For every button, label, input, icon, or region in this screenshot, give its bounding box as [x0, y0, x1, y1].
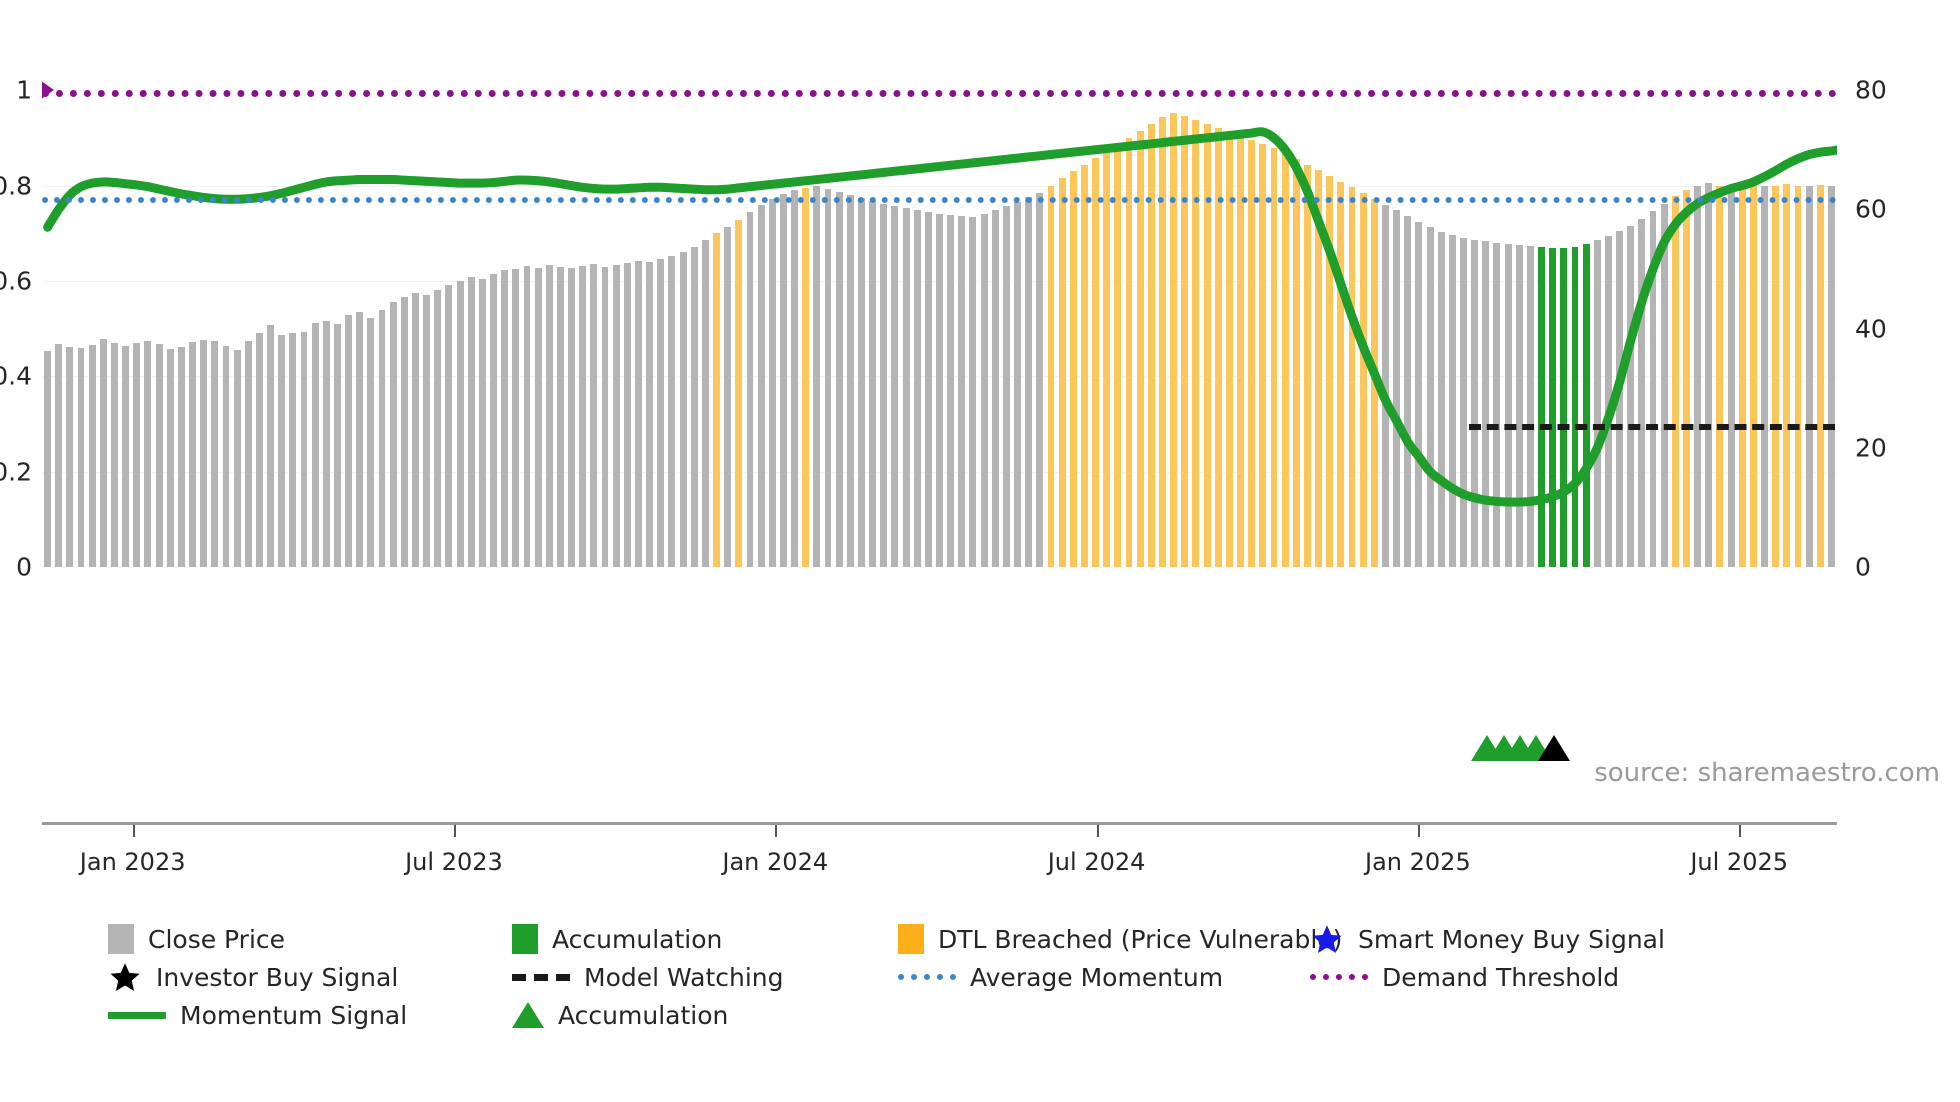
bar-close: [668, 256, 675, 567]
legend-item-model-watching[interactable]: Model Watching: [512, 958, 784, 996]
legend-item-dtl-breached[interactable]: DTL Breached (Price Vulnerable): [898, 920, 1342, 958]
bar-close: [367, 318, 374, 567]
bar-close: [1404, 216, 1411, 567]
bar-accum: [1538, 247, 1545, 567]
bar-close: [914, 210, 921, 567]
bar-close: [1460, 238, 1467, 567]
bar-close: [468, 277, 475, 567]
bar-close: [1438, 232, 1445, 567]
bar-close: [1638, 219, 1645, 567]
bar-close: [769, 199, 776, 567]
x-axis-tick-mark: [1739, 825, 1741, 837]
bar-close: [111, 343, 118, 567]
gridline: [42, 186, 1837, 187]
bar-dtl: [1170, 113, 1177, 567]
bar-dtl: [1371, 199, 1378, 567]
bar-close: [1036, 193, 1043, 567]
bar-dtl: [1148, 124, 1155, 567]
bar-close: [178, 347, 185, 567]
bar-accum: [1583, 244, 1590, 567]
bar-dtl: [802, 188, 809, 567]
legend-item-momentum-signal[interactable]: Momentum Signal: [108, 996, 407, 1034]
bar-close: [791, 190, 798, 567]
x-axis-tick-label: Jul 2025: [1690, 848, 1788, 876]
bar-close: [825, 189, 832, 567]
bar-close: [44, 351, 51, 567]
bar-close: [691, 247, 698, 567]
bar-close: [1505, 244, 1512, 567]
y-axis-right-tick-label: 60: [1855, 195, 1935, 224]
bar-dtl: [1271, 148, 1278, 567]
average-momentum-line: [42, 197, 1837, 203]
bar-close: [312, 323, 319, 567]
bar-dtl: [1739, 185, 1746, 567]
bar-dtl: [1192, 120, 1199, 567]
bar-dtl: [1817, 185, 1824, 567]
bar-close: [1627, 226, 1634, 567]
bar-dtl: [1795, 186, 1802, 567]
bar-close: [479, 279, 486, 567]
plot-clip: [42, 52, 1837, 567]
bar-close: [1694, 186, 1701, 567]
bar-dtl: [1259, 144, 1266, 567]
color-swatch-icon: [512, 924, 538, 954]
bar-close: [256, 333, 263, 567]
bar-close: [969, 217, 976, 567]
star-icon: [108, 961, 142, 993]
bar-close: [412, 293, 419, 567]
bar-close: [289, 333, 296, 567]
legend-row: Close PriceAccumulationDTL Breached (Pri…: [108, 920, 1928, 958]
color-swatch-icon: [108, 924, 134, 954]
legend-label: Momentum Signal: [180, 1001, 407, 1030]
legend-label: Smart Money Buy Signal: [1358, 925, 1665, 954]
bar-close: [981, 214, 988, 567]
bar-dtl: [713, 233, 720, 567]
legend-item-accumulation-triangle[interactable]: Accumulation: [512, 996, 728, 1034]
bar-dtl: [1337, 182, 1344, 567]
bar-close: [490, 274, 497, 567]
bar-close: [445, 285, 452, 567]
solid-line-icon: [108, 1012, 166, 1019]
bar-close: [1728, 187, 1735, 567]
bar-close: [1605, 236, 1612, 567]
bar-dtl: [1081, 165, 1088, 567]
bar-dtl: [1159, 117, 1166, 567]
y-axis-left-tick-label: 1: [0, 76, 32, 105]
bar-close: [223, 346, 230, 567]
bar-dtl: [1282, 153, 1289, 567]
bar-close: [1705, 183, 1712, 567]
bar-accum: [1572, 247, 1579, 567]
y-axis-left-tick-label: 0.4: [0, 362, 32, 391]
bar-close: [1828, 186, 1835, 567]
bar-dtl: [1315, 170, 1322, 567]
legend-label: Average Momentum: [970, 963, 1223, 992]
bar-close: [590, 264, 597, 567]
x-axis-tick-mark: [1097, 825, 1099, 837]
bar-close: [301, 332, 308, 567]
bar-close: [992, 210, 999, 567]
bar-close: [345, 315, 352, 567]
bar-close: [1382, 205, 1389, 567]
bar-close: [55, 344, 62, 567]
bar-close: [602, 267, 609, 567]
chart-legend: Close PriceAccumulationDTL Breached (Pri…: [108, 920, 1928, 1034]
legend-label: Accumulation: [558, 1001, 728, 1030]
bar-close: [1761, 186, 1768, 567]
legend-label: Investor Buy Signal: [156, 963, 398, 992]
bar-close: [267, 325, 274, 567]
bar-close: [1493, 243, 1500, 567]
y-axis-right-tick-label: 20: [1855, 433, 1935, 462]
bar-dtl: [1304, 165, 1311, 567]
bar-close: [211, 341, 218, 568]
legend-item-demand-threshold[interactable]: Demand Threshold: [1310, 958, 1619, 996]
bar-close: [401, 297, 408, 567]
bar-close: [579, 266, 586, 567]
bar-close: [423, 295, 430, 567]
bar-close: [568, 268, 575, 567]
bar-close: [1449, 235, 1456, 567]
y-axis-left-tick-label: 0.2: [0, 457, 32, 486]
bar-close: [780, 194, 787, 567]
demand-threshold-diamond-icon: [42, 73, 54, 107]
y-axis-right-tick-label: 0: [1855, 553, 1935, 582]
y-axis-right-tick-label: 40: [1855, 314, 1935, 343]
bar-close: [1393, 210, 1400, 567]
dashed-line-icon: [512, 974, 570, 981]
bar-close: [245, 341, 252, 567]
bar-close: [813, 186, 820, 567]
legend-item-average-momentum[interactable]: Average Momentum: [898, 958, 1223, 996]
plot-area: [42, 52, 1837, 567]
x-axis-tick-label: Jan 2023: [80, 848, 186, 876]
y-axis-left-tick-label: 0.6: [0, 266, 32, 295]
legend-label: DTL Breached (Price Vulnerable): [938, 925, 1342, 954]
bar-close: [200, 340, 207, 567]
x-axis-tick-label: Jul 2024: [1048, 848, 1146, 876]
bar-close: [189, 342, 196, 567]
bar-close: [724, 227, 731, 567]
model-watching-line: [1469, 424, 1835, 430]
bar-close: [1806, 186, 1813, 567]
bar-close: [1014, 202, 1021, 567]
bar-close: [925, 212, 932, 567]
star-icon: [1310, 923, 1344, 955]
bar-close: [747, 212, 754, 567]
bar-dtl: [1181, 116, 1188, 567]
bar-close: [122, 346, 129, 567]
bar-close: [167, 349, 174, 567]
bar-close: [1482, 241, 1489, 567]
bar-close: [1650, 211, 1657, 567]
bar-close: [847, 195, 854, 567]
bar-dtl: [735, 220, 742, 567]
bar-close: [66, 347, 73, 567]
x-axis-tick-label: Jul 2023: [405, 848, 503, 876]
bar-close: [78, 348, 85, 567]
bar-close: [1415, 222, 1422, 567]
bar-accum: [1560, 248, 1567, 567]
bar-dtl: [1048, 186, 1055, 567]
bar-close: [557, 267, 564, 567]
bar-dtl: [1349, 187, 1356, 567]
bar-close: [133, 343, 140, 567]
y-axis-right-tick-label: 80: [1855, 76, 1935, 105]
bar-close: [89, 345, 96, 567]
bar-close: [356, 312, 363, 567]
triangle-icon: [512, 1002, 544, 1028]
bar-close: [1427, 227, 1434, 567]
dotted-line-icon: [1310, 974, 1368, 980]
bar-close: [501, 270, 508, 567]
bar-close: [144, 341, 151, 567]
bar-close: [702, 240, 709, 567]
chart-page: 00.20.40.60.81 020406080 Jan 2023Jul 202…: [0, 0, 1960, 1102]
legend-row: Investor Buy SignalModel WatchingAverage…: [108, 958, 1928, 996]
x-axis-line: [42, 822, 1837, 825]
x-axis-tick-label: Jan 2024: [722, 848, 828, 876]
source-attribution: source: sharemaestro.com: [1594, 758, 1940, 788]
bar-close: [334, 324, 341, 567]
bar-close: [1527, 246, 1534, 567]
bar-dtl: [1103, 151, 1110, 567]
bar-close: [1003, 206, 1010, 567]
bar-close: [535, 268, 542, 567]
bar-dtl: [1293, 159, 1300, 567]
bar-close: [958, 216, 965, 567]
legend-item-investor-buy-signal[interactable]: Investor Buy Signal: [108, 958, 398, 996]
bar-close: [457, 281, 464, 567]
bar-close: [936, 214, 943, 567]
x-axis-tick-mark: [775, 825, 777, 837]
bar-close: [680, 252, 687, 567]
bar-close: [891, 206, 898, 567]
bar-close: [1594, 240, 1601, 567]
y-axis-left-tick-label: 0: [0, 553, 32, 582]
bar-close: [758, 205, 765, 567]
bar-close: [156, 344, 163, 567]
bar-dtl: [1716, 186, 1723, 567]
bar-dtl: [1070, 171, 1077, 567]
dotted-line-icon: [898, 974, 956, 980]
bar-dtl: [1204, 124, 1211, 567]
bar-dtl: [1248, 140, 1255, 567]
y-axis-left-tick-label: 0.8: [0, 171, 32, 200]
bar-close: [624, 263, 631, 567]
bar-close: [234, 350, 241, 567]
bar-close: [323, 321, 330, 567]
bar-dtl: [1683, 190, 1690, 567]
bar-close: [1616, 231, 1623, 567]
legend-label: Accumulation: [552, 925, 722, 954]
bar-close: [635, 261, 642, 567]
x-axis-tick-mark: [1418, 825, 1420, 837]
bar-dtl: [1215, 128, 1222, 567]
legend-label: Model Watching: [584, 963, 784, 992]
legend-label: Demand Threshold: [1382, 963, 1619, 992]
bar-dtl: [1672, 196, 1679, 567]
bar-close: [858, 198, 865, 567]
bar-close: [869, 201, 876, 567]
bar-close: [546, 265, 553, 567]
bar-dtl: [1783, 184, 1790, 567]
bar-close: [646, 262, 653, 567]
bar-close: [512, 269, 519, 568]
bar-close: [1025, 197, 1032, 567]
bar-close: [657, 259, 664, 567]
bar-dtl: [1360, 193, 1367, 567]
bar-dtl: [1326, 176, 1333, 567]
bar-dtl: [1750, 183, 1757, 567]
color-swatch-icon: [898, 924, 924, 954]
legend-item-close-price[interactable]: Close Price: [108, 920, 285, 958]
bar-close: [524, 266, 531, 567]
bar-dtl: [1059, 178, 1066, 567]
legend-label: Close Price: [148, 925, 285, 954]
x-axis-tick-label: Jan 2025: [1365, 848, 1471, 876]
bar-close: [1516, 245, 1523, 567]
bar-dtl: [1092, 158, 1099, 567]
bar-close: [100, 339, 107, 567]
demand-threshold-line: [42, 90, 1837, 97]
x-axis-tick-mark: [133, 825, 135, 837]
x-axis-tick-mark: [454, 825, 456, 837]
bar-dtl: [1772, 186, 1779, 567]
bar-close: [613, 265, 620, 567]
bar-accum: [1549, 248, 1556, 567]
bar-dtl: [1114, 145, 1121, 567]
legend-item-smart-money-buy-signal[interactable]: Smart Money Buy Signal: [1310, 920, 1665, 958]
bar-close: [1661, 204, 1668, 567]
bar-close: [947, 215, 954, 567]
bar-close: [903, 208, 910, 567]
investor-buy-signal-triangle-icon: [1538, 735, 1570, 761]
legend-item-accumulation-bar[interactable]: Accumulation: [512, 920, 722, 958]
bar-close: [1471, 240, 1478, 567]
bar-close: [434, 290, 441, 567]
bar-close: [390, 302, 397, 567]
legend-row: Momentum SignalAccumulation: [108, 996, 1928, 1034]
bar-close: [836, 192, 843, 567]
bar-close: [278, 335, 285, 567]
bar-close: [379, 310, 386, 568]
bar-close: [880, 204, 887, 567]
